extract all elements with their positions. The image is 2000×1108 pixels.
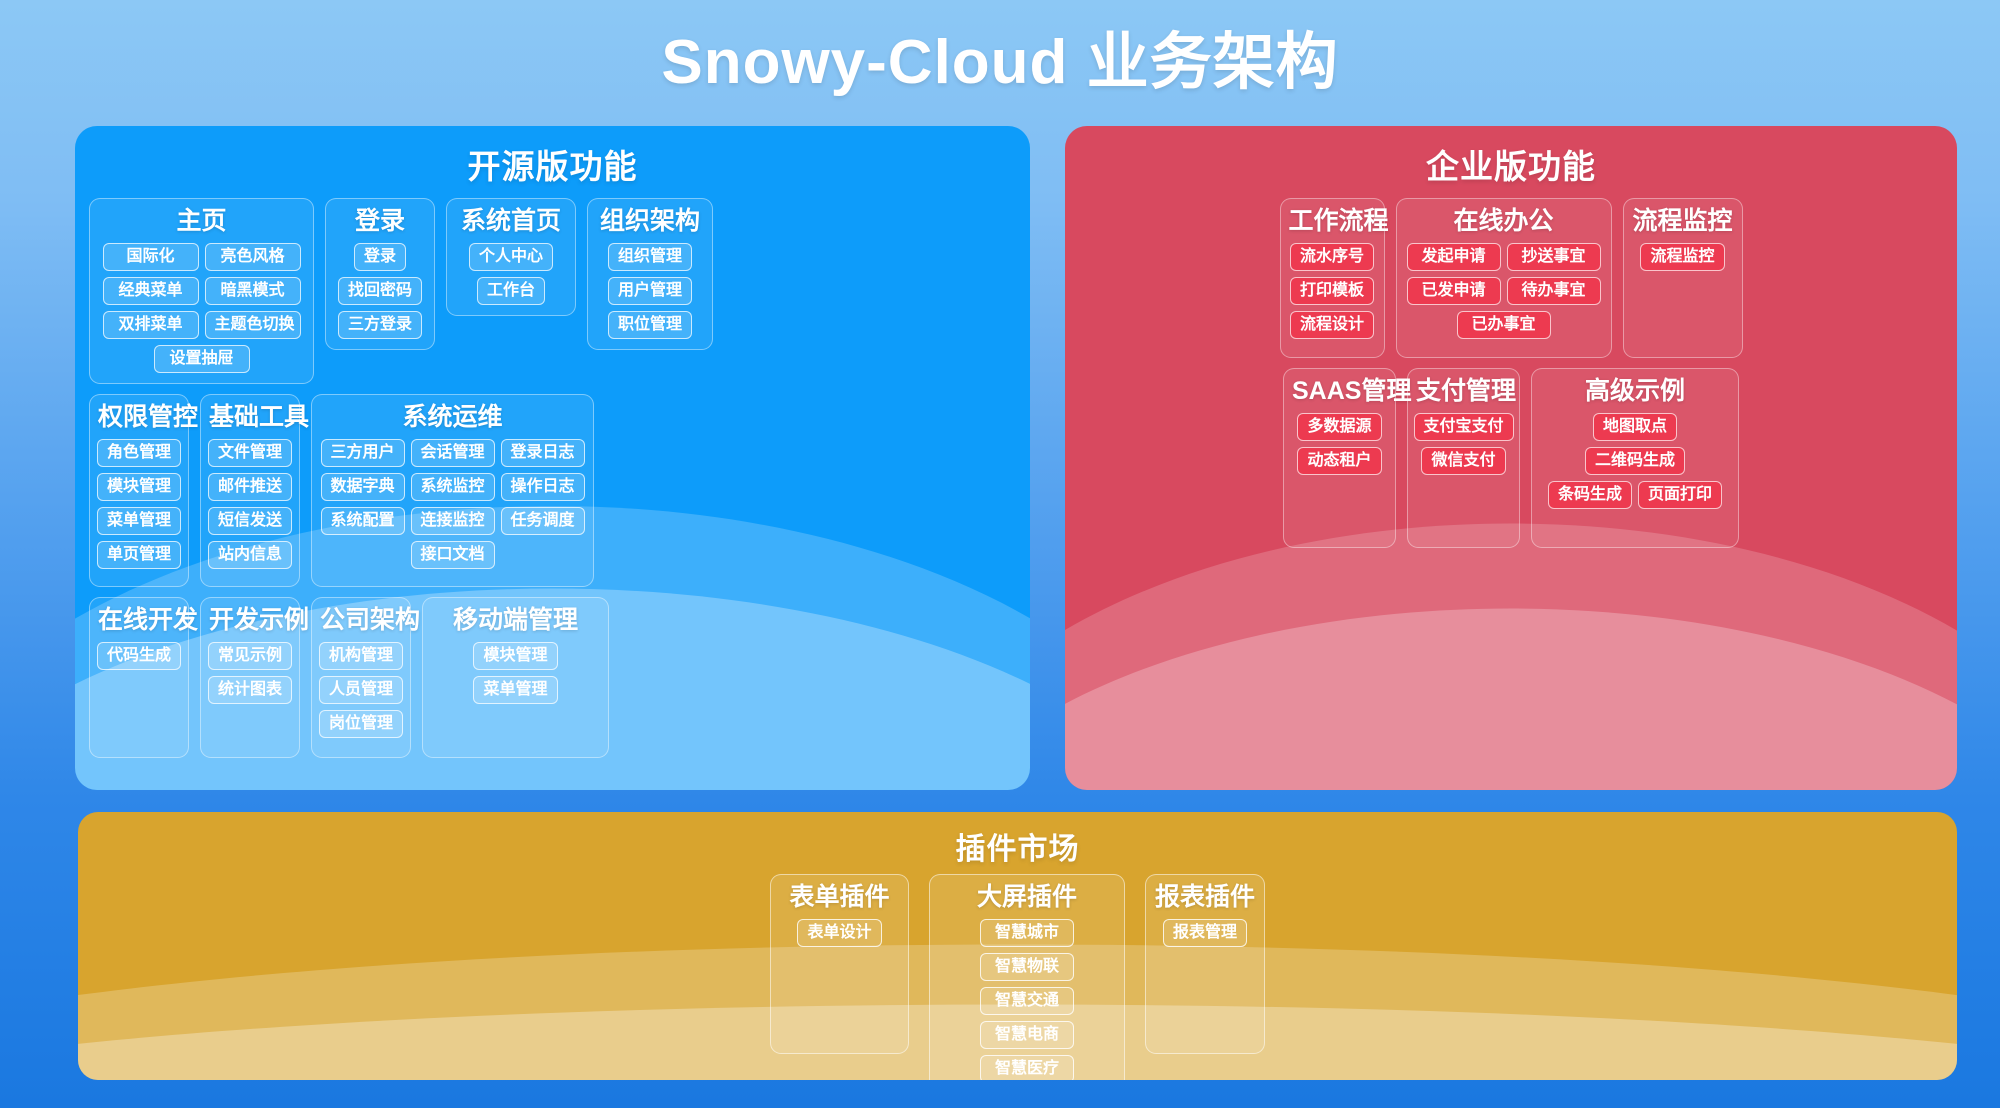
- opensource-row-2: 权限管控 角色管理 模块管理 菜单管理 单页管理 基础工具 文件管理 邮件推送 …: [89, 394, 1016, 587]
- chip-item[interactable]: 三方登录: [338, 311, 422, 339]
- chip-item[interactable]: 表单设计: [797, 919, 881, 947]
- panel-enterprise: 企业版功能 工作流程 流水序号 打印模板 流程设计 在线办公 发起申请 抄送事宜…: [1065, 126, 1957, 790]
- enterprise-row-1: 工作流程 流水序号 打印模板 流程设计 在线办公 发起申请 抄送事宜 已发申请 …: [1079, 198, 1943, 358]
- chip-item[interactable]: 主题色切换: [205, 311, 301, 339]
- group-title: 移动端管理: [431, 603, 600, 637]
- plugin-row-1: 表单插件 表单设计 大屏插件 智慧城市 智慧物联 智慧交通 智慧电商 智慧医疗 …: [92, 874, 1943, 1080]
- chip-item[interactable]: 机构管理: [319, 642, 403, 670]
- group-report-plugin[interactable]: 报表插件 报表管理: [1145, 874, 1265, 1054]
- chip-item[interactable]: 流水序号: [1290, 243, 1374, 271]
- chip-item[interactable]: 数据字典: [321, 473, 405, 501]
- chip-item[interactable]: 发起申请: [1407, 243, 1501, 271]
- group-login[interactable]: 登录 登录 找回密码 三方登录: [325, 198, 435, 350]
- chip-list: 机构管理 人员管理 岗位管理: [320, 642, 402, 738]
- chip-item[interactable]: 系统监控: [411, 473, 495, 501]
- chip-item[interactable]: 设置抽屉: [154, 345, 250, 373]
- chip-item[interactable]: 会话管理: [411, 439, 495, 467]
- group-payment[interactable]: 支付管理 支付宝支付 微信支付: [1407, 368, 1520, 548]
- chip-item[interactable]: 智慧电商: [980, 1021, 1074, 1049]
- chip-item[interactable]: 短信发送: [208, 507, 292, 535]
- chip-list: 支付宝支付 微信支付: [1416, 413, 1511, 475]
- chip-item[interactable]: 常见示例: [208, 642, 292, 670]
- chip-item[interactable]: 暗黑模式: [205, 277, 301, 305]
- chip-item[interactable]: 待办事宜: [1507, 277, 1601, 305]
- enterprise-groups: 工作流程 流水序号 打印模板 流程设计 在线办公 发起申请 抄送事宜 已发申请 …: [1065, 198, 1957, 548]
- chip-item[interactable]: 组织管理: [608, 243, 692, 271]
- group-online-office[interactable]: 在线办公 发起申请 抄送事宜 已发申请 待办事宜 已办事宜: [1396, 198, 1612, 358]
- group-saas[interactable]: SAAS管理 多数据源 动态租户: [1283, 368, 1396, 548]
- chip-item[interactable]: 工作台: [477, 277, 545, 305]
- panel-plugin-market: 插件市场 表单插件 表单设计 大屏插件 智慧城市 智慧物联 智慧交通 智慧电商 …: [78, 812, 1957, 1080]
- chip-item[interactable]: 智慧物联: [980, 953, 1074, 981]
- group-permission[interactable]: 权限管控 角色管理 模块管理 菜单管理 单页管理: [89, 394, 189, 587]
- chip-list: 多数据源 动态租户: [1292, 413, 1387, 475]
- group-process-monitor[interactable]: 流程监控 流程监控: [1623, 198, 1743, 358]
- chip-item[interactable]: 找回密码: [338, 277, 422, 305]
- chip-item[interactable]: 国际化: [103, 243, 199, 271]
- page-title: Snowy-Cloud 业务架构: [0, 18, 2000, 108]
- chip-item[interactable]: 模块管理: [473, 642, 557, 670]
- chip-item[interactable]: 支付宝支付: [1414, 413, 1514, 441]
- panel-opensource-title: 开源版功能: [75, 126, 1030, 198]
- chip-item[interactable]: 报表管理: [1163, 919, 1247, 947]
- chip-list: 三方用户 会话管理 登录日志 数据字典 系统监控 操作日志 系统配置 连接监控 …: [320, 439, 585, 569]
- chip-item[interactable]: 人员管理: [319, 676, 403, 704]
- chip-item[interactable]: 智慧交通: [980, 987, 1074, 1015]
- chip-item[interactable]: 连接监控: [411, 507, 495, 535]
- chip-item[interactable]: 文件管理: [208, 439, 292, 467]
- chip-item[interactable]: 亮色风格: [205, 243, 301, 271]
- opensource-groups: 主页 国际化 亮色风格 经典菜单 暗黑模式 双排菜单 主题色切换 设置抽屉 登录…: [75, 198, 1030, 758]
- chip-list: 个人中心 工作台: [455, 243, 567, 305]
- group-title: 登录: [334, 204, 426, 238]
- chip-item[interactable]: 页面打印: [1638, 481, 1722, 509]
- chip-item[interactable]: 邮件推送: [208, 473, 292, 501]
- group-advanced-demo[interactable]: 高级示例 地图取点 二维码生成 条码生成 页面打印: [1531, 368, 1739, 548]
- group-title: 工作流程: [1289, 204, 1376, 238]
- chip-item[interactable]: 模块管理: [97, 473, 181, 501]
- group-title: 大屏插件: [938, 880, 1116, 914]
- group-system-home[interactable]: 系统首页 个人中心 工作台: [446, 198, 576, 316]
- chip-item[interactable]: 岗位管理: [319, 710, 403, 738]
- chip-item[interactable]: 智慧城市: [980, 919, 1074, 947]
- group-title: 在线办公: [1405, 204, 1603, 238]
- chip-item[interactable]: 登录: [354, 243, 406, 271]
- group-title: 主页: [98, 204, 305, 238]
- group-title: 权限管控: [98, 400, 180, 434]
- group-system-ops[interactable]: 系统运维 三方用户 会话管理 登录日志 数据字典 系统监控 操作日志 系统配置 …: [311, 394, 594, 587]
- opensource-row-3: 在线开发 代码生成 开发示例 常见示例 统计图表 公司架构 机构管理 人员管理 …: [89, 597, 1016, 758]
- chip-list: 流程监控: [1632, 243, 1734, 271]
- chip-item[interactable]: 菜单管理: [473, 676, 557, 704]
- group-workflow[interactable]: 工作流程 流水序号 打印模板 流程设计: [1280, 198, 1385, 358]
- chip-item[interactable]: 站内信息: [208, 541, 292, 569]
- chip-list: 常见示例 统计图表: [209, 642, 291, 704]
- group-title: 表单插件: [779, 880, 900, 914]
- chip-list: 登录 找回密码 三方登录: [334, 243, 426, 339]
- chip-item[interactable]: 动态租户: [1297, 447, 1381, 475]
- chip-item[interactable]: 接口文档: [411, 541, 495, 569]
- chip-item[interactable]: 微信支付: [1421, 447, 1505, 475]
- chip-item[interactable]: 登录日志: [501, 439, 585, 467]
- opensource-row-1: 主页 国际化 亮色风格 经典菜单 暗黑模式 双排菜单 主题色切换 设置抽屉 登录…: [89, 198, 1016, 384]
- chip-list: 国际化 亮色风格 经典菜单 暗黑模式 双排菜单 主题色切换 设置抽屉: [98, 243, 305, 373]
- chip-list: 代码生成: [98, 642, 180, 670]
- chip-item[interactable]: 三方用户: [321, 439, 405, 467]
- chip-item[interactable]: 任务调度: [501, 507, 585, 535]
- chip-list: 智慧城市 智慧物联 智慧交通 智慧电商 智慧医疗 智慧运维 智慧政务 智慧金融: [938, 919, 1116, 1080]
- chip-item[interactable]: 流程监控: [1640, 243, 1724, 271]
- enterprise-row-2: SAAS管理 多数据源 动态租户 支付管理 支付宝支付 微信支付 高级示例 地图…: [1079, 368, 1943, 548]
- group-organization[interactable]: 组织架构 组织管理 用户管理 职位管理: [587, 198, 713, 350]
- chip-list: 角色管理 模块管理 菜单管理 单页管理: [98, 439, 180, 569]
- chip-item[interactable]: 统计图表: [208, 676, 292, 704]
- chip-item[interactable]: 二维码生成: [1585, 447, 1685, 475]
- chip-item[interactable]: 已发申请: [1407, 277, 1501, 305]
- group-title: 高级示例: [1540, 374, 1730, 408]
- group-title: 系统运维: [320, 400, 585, 434]
- panel-opensource: 开源版功能 主页 国际化 亮色风格 经典菜单 暗黑模式 双排菜单 主题色切换 设…: [75, 126, 1030, 790]
- chip-item[interactable]: 双排菜单: [103, 311, 199, 339]
- group-title: 组织架构: [596, 204, 704, 238]
- group-basic-tools[interactable]: 基础工具 文件管理 邮件推送 短信发送 站内信息: [200, 394, 300, 587]
- chip-list: 模块管理 菜单管理: [431, 642, 600, 704]
- chip-item[interactable]: 打印模板: [1290, 277, 1374, 305]
- chip-item[interactable]: 经典菜单: [103, 277, 199, 305]
- group-title: 报表插件: [1154, 880, 1256, 914]
- chip-item[interactable]: 已办事宜: [1457, 311, 1551, 339]
- group-online-dev[interactable]: 在线开发 代码生成: [89, 597, 189, 758]
- chip-list: 流水序号 打印模板 流程设计: [1289, 243, 1376, 339]
- chip-item[interactable]: 角色管理: [97, 439, 181, 467]
- chip-item[interactable]: 单页管理: [97, 541, 181, 569]
- group-dev-demo[interactable]: 开发示例 常见示例 统计图表: [200, 597, 300, 758]
- chip-item[interactable]: 个人中心: [469, 243, 553, 271]
- chip-item[interactable]: 地图取点: [1593, 413, 1677, 441]
- chip-item[interactable]: 操作日志: [501, 473, 585, 501]
- chip-item[interactable]: 用户管理: [608, 277, 692, 305]
- chip-item[interactable]: 抄送事宜: [1507, 243, 1601, 271]
- group-title: 在线开发: [98, 603, 180, 637]
- chip-item[interactable]: 代码生成: [97, 642, 181, 670]
- group-home[interactable]: 主页 国际化 亮色风格 经典菜单 暗黑模式 双排菜单 主题色切换 设置抽屉: [89, 198, 314, 384]
- chip-item[interactable]: 流程设计: [1290, 311, 1374, 339]
- chip-item[interactable]: 职位管理: [608, 311, 692, 339]
- group-title: 流程监控: [1632, 204, 1734, 238]
- plugin-groups: 表单插件 表单设计 大屏插件 智慧城市 智慧物联 智慧交通 智慧电商 智慧医疗 …: [78, 874, 1957, 1080]
- group-company-structure[interactable]: 公司架构 机构管理 人员管理 岗位管理: [311, 597, 411, 758]
- group-title: 基础工具: [209, 400, 291, 434]
- chip-item[interactable]: 系统配置: [321, 507, 405, 535]
- chip-list: 组织管理 用户管理 职位管理: [596, 243, 704, 339]
- group-title: 支付管理: [1416, 374, 1511, 408]
- group-title: 公司架构: [320, 603, 402, 637]
- chip-list: 报表管理: [1154, 919, 1256, 947]
- chip-item[interactable]: 菜单管理: [97, 507, 181, 535]
- group-mobile-management[interactable]: 移动端管理 模块管理 菜单管理: [422, 597, 609, 758]
- chip-list: 表单设计: [779, 919, 900, 947]
- chip-list: 地图取点 二维码生成 条码生成 页面打印: [1540, 413, 1730, 509]
- panel-plugin-market-title: 插件市场: [78, 812, 1957, 874]
- panel-enterprise-title: 企业版功能: [1065, 126, 1957, 198]
- chip-list: 发起申请 抄送事宜 已发申请 待办事宜 已办事宜: [1405, 243, 1603, 339]
- chip-item[interactable]: 智慧医疗: [980, 1055, 1074, 1080]
- chip-item[interactable]: 多数据源: [1297, 413, 1381, 441]
- group-bigscreen-plugin[interactable]: 大屏插件 智慧城市 智慧物联 智慧交通 智慧电商 智慧医疗 智慧运维 智慧政务 …: [929, 874, 1125, 1080]
- group-title: SAAS管理: [1292, 374, 1387, 408]
- group-title: 开发示例: [209, 603, 291, 637]
- group-form-plugin[interactable]: 表单插件 表单设计: [770, 874, 909, 1054]
- group-title: 系统首页: [455, 204, 567, 238]
- chip-list: 文件管理 邮件推送 短信发送 站内信息: [209, 439, 291, 569]
- chip-item[interactable]: 条码生成: [1548, 481, 1632, 509]
